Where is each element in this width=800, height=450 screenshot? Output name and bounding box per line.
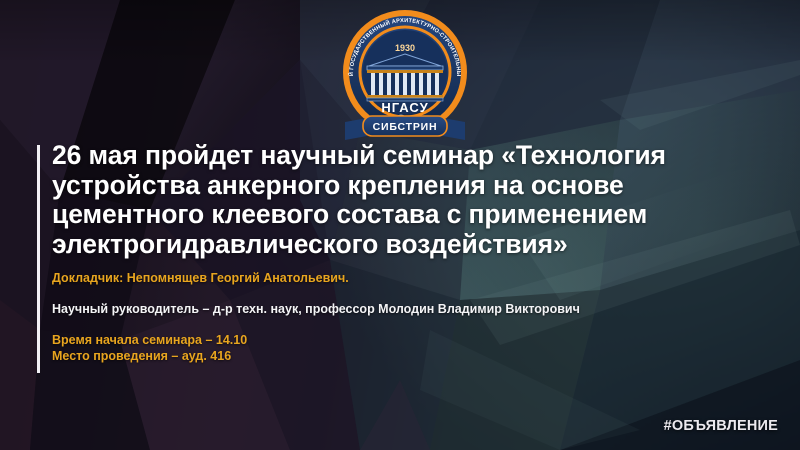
supervisor-line: Научный руководитель – д-р техн. наук, п…	[52, 302, 580, 317]
svg-text:НГАСУ: НГАСУ	[381, 100, 428, 115]
speaker-line: Докладчик: Непомнящев Георгий Анатольеви…	[52, 271, 349, 286]
hashtag-label: #ОБЪЯВЛЕНИЕ	[664, 418, 778, 434]
content-block: 26 мая пройдет научный семинар «Технолог…	[52, 141, 692, 259]
svg-text:1930: 1930	[395, 43, 415, 53]
vertical-accent-bar	[37, 145, 40, 373]
details-block: Время начала семинара – 14.10 Место пров…	[52, 332, 247, 364]
seminar-place: Место проведения – ауд. 416	[52, 348, 247, 364]
seminar-time: Время начала семинара – 14.10	[52, 332, 247, 348]
svg-text:СИБСТРИН: СИБСТРИН	[373, 121, 438, 133]
ngasu-sibstrin-logo: НОВОСИБИРСКИЙ ГОСУДАРСТВЕННЫЙ АРХИТЕКТУР…	[337, 4, 473, 144]
announcement-slide: НОВОСИБИРСКИЙ ГОСУДАРСТВЕННЫЙ АРХИТЕКТУР…	[0, 0, 800, 450]
headline: 26 мая пройдет научный семинар «Технолог…	[52, 141, 692, 259]
